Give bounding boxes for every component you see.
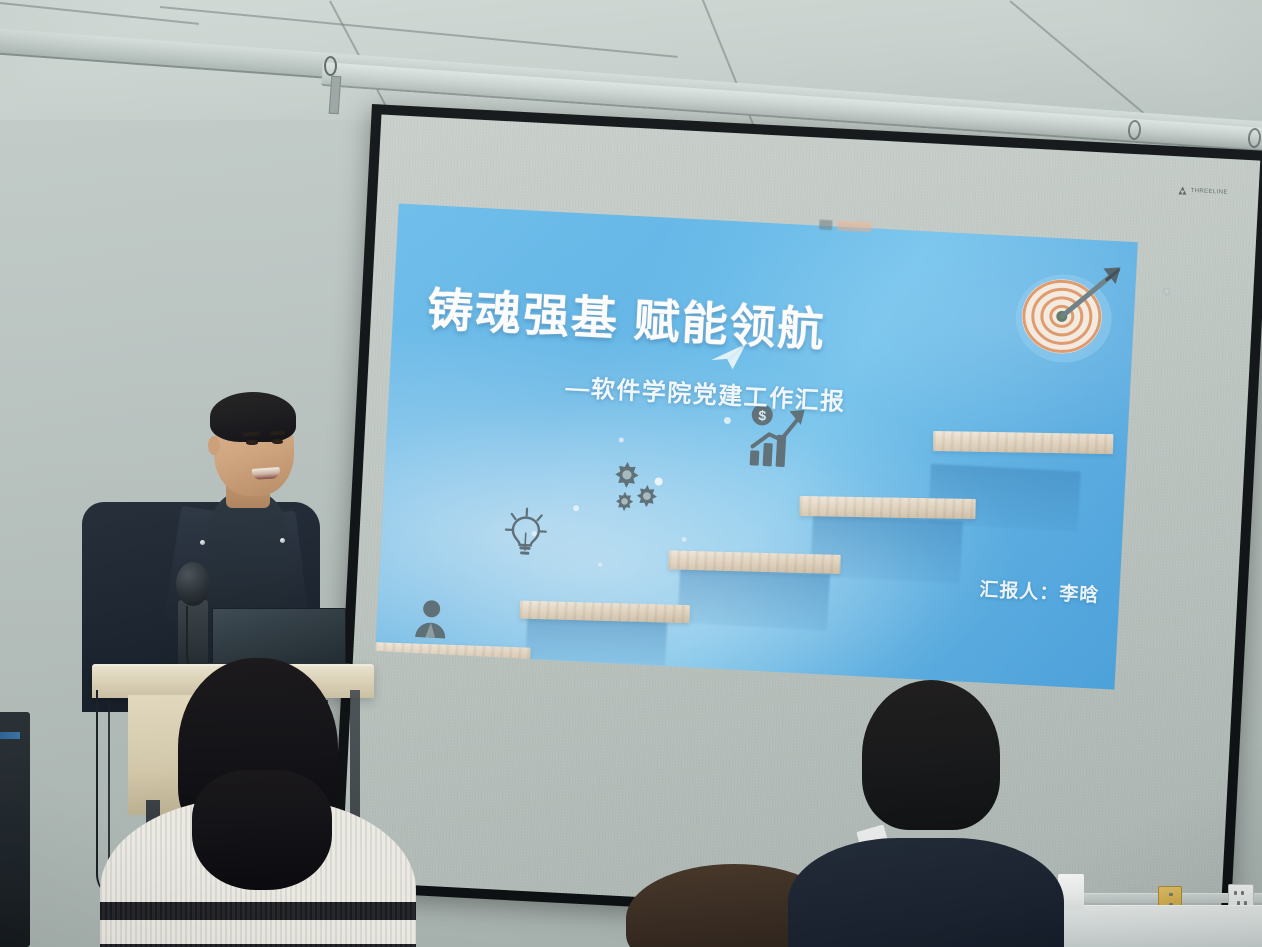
projector-right-toolbar[interactable] [1163, 288, 1175, 296]
audience-member-left [82, 650, 452, 947]
audience-suit [788, 838, 1064, 947]
projected-slide: $ [375, 204, 1137, 690]
sparkle-dot [573, 505, 579, 511]
step-shadow [928, 464, 1081, 532]
sparkle-dot [724, 417, 731, 424]
stair-step [933, 431, 1113, 454]
slide-presenter-line: 汇报人：李晗 [979, 574, 1100, 607]
presenter-lapel-pin [280, 538, 285, 543]
presenter-eye [246, 440, 258, 445]
lightbulb-icon [502, 506, 549, 562]
ceiling-tile-line [0, 2, 199, 25]
equipment-cabinet [0, 712, 30, 947]
toolbar-status-dot-icon [1163, 288, 1170, 295]
audience-hair-short [862, 680, 1000, 830]
roller-hook-icon [324, 56, 337, 76]
sparkle-dot [619, 437, 624, 442]
presenter-lapel-pin [200, 540, 205, 545]
slide-subtitle: —软件学院党建工作汇报 [565, 368, 847, 418]
projector-brand-label: THREELINE [1190, 188, 1228, 196]
presenter-brow [270, 431, 285, 436]
step-shadow [677, 567, 830, 631]
person-icon [412, 597, 450, 639]
sparkle-dot [598, 562, 602, 566]
presenter-eye [272, 439, 283, 444]
presenter-ear [208, 436, 220, 455]
presentation-photo-scene: THREELINE [0, 0, 1262, 947]
presenter-turtleneck [206, 492, 290, 624]
projector-brand: THREELINE [1178, 186, 1228, 197]
mitsubishi-triangles-icon [1178, 186, 1187, 194]
sparkle-dot [682, 537, 687, 542]
cabinet-led-icon [0, 732, 20, 739]
step-shadow [525, 615, 667, 666]
slide-title: 铸魂强基 赋能领航 [426, 273, 828, 360]
toolbar-highlight-chip[interactable] [837, 221, 871, 233]
audience-hair-long-lower [192, 770, 332, 890]
stair-step [799, 496, 975, 519]
gears-icon [605, 459, 668, 520]
target-arrow-icon [1003, 258, 1129, 374]
microphone-head [176, 562, 210, 606]
audience-member-right [780, 670, 1120, 947]
toolbar-chip-icon[interactable] [819, 220, 833, 231]
